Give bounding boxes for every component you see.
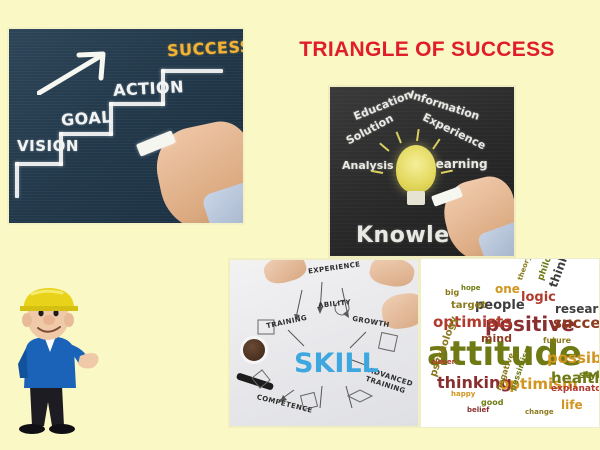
chalk-label-learning: Learning <box>428 157 488 171</box>
stair-tread-3 <box>109 102 165 106</box>
word-cloud-term: happy <box>451 391 475 398</box>
word-cloud-term: change <box>525 409 554 416</box>
word-cloud-term: style <box>579 371 600 381</box>
stair-tread-4 <box>161 69 223 73</box>
word-cloud-term: possible <box>547 351 600 366</box>
word-cloud-term: future <box>543 337 571 345</box>
lightbulb-icon <box>396 145 436 193</box>
worker-shoe-right <box>49 424 75 434</box>
worker-trousers <box>30 386 64 426</box>
mind-map-arrows <box>230 260 420 428</box>
chalk-label-vision: VISION <box>17 137 79 155</box>
mindmap-center-label-skill: SKILL <box>294 348 379 379</box>
word-cloud-term: life <box>561 399 583 411</box>
word-cloud-term: success <box>553 316 600 331</box>
word-cloud-term: belief <box>467 407 489 414</box>
lightbulb-base <box>407 191 425 205</box>
word-cloud-term: mind <box>481 333 512 344</box>
stair-tread-2 <box>59 132 113 136</box>
worker-shoe-left <box>19 424 45 434</box>
chalk-label-action: ACTION <box>113 77 185 100</box>
word-cloud-term: theory <box>517 258 532 281</box>
chalk-label-information: Information <box>408 88 481 123</box>
stair-tread-1 <box>15 162 63 166</box>
chalk-label-goal: GOAL <box>60 107 112 130</box>
worker-ear-right <box>64 313 74 327</box>
chalk-label-success: SUCCESS <box>167 37 245 60</box>
worker-ear-left <box>22 313 32 327</box>
word-cloud-term: research <box>555 303 600 315</box>
upward-arrow-icon <box>37 51 115 95</box>
word-cloud-term: target <box>451 301 486 311</box>
word-cloud-term: hope <box>461 285 481 292</box>
light-ray-icon <box>396 131 402 143</box>
chalk-label-analysis: Analysis <box>342 159 394 172</box>
stair-riser-0 <box>15 162 19 198</box>
image-skill-mind-map[interactable]: EXPERIENCE ABILITY TRAINING GROWTH ADVAN… <box>228 258 420 428</box>
word-cloud-term: one <box>495 283 520 295</box>
worker-helmet-brim <box>20 306 78 311</box>
image-attitude-word-cloud[interactable]: attitudepositiveoptimistssuccessthinking… <box>420 258 600 428</box>
light-ray-icon <box>416 129 420 141</box>
light-ray-icon <box>379 143 389 152</box>
word-cloud-term: explanatory <box>551 385 600 394</box>
image-vision-goal-action-success[interactable]: VISION GOAL ACTION SUCCESS <box>7 27 245 225</box>
cartoon-worker-character[interactable] <box>4 286 100 444</box>
page-title: TRIANGLE OF SUCCESS <box>272 38 582 62</box>
worker-nose <box>43 315 55 325</box>
word-cloud-term: logic <box>521 291 556 304</box>
word-cloud-term: clever <box>431 359 455 366</box>
light-ray-icon <box>432 138 440 149</box>
presentation-slide: TRIANGLE OF SUCCESS VISION GOAL ACTION S… <box>0 0 600 450</box>
image-knowledge-lightbulb[interactable]: Education Information Solution Experienc… <box>328 85 516 258</box>
word-cloud-term: big <box>445 289 459 297</box>
